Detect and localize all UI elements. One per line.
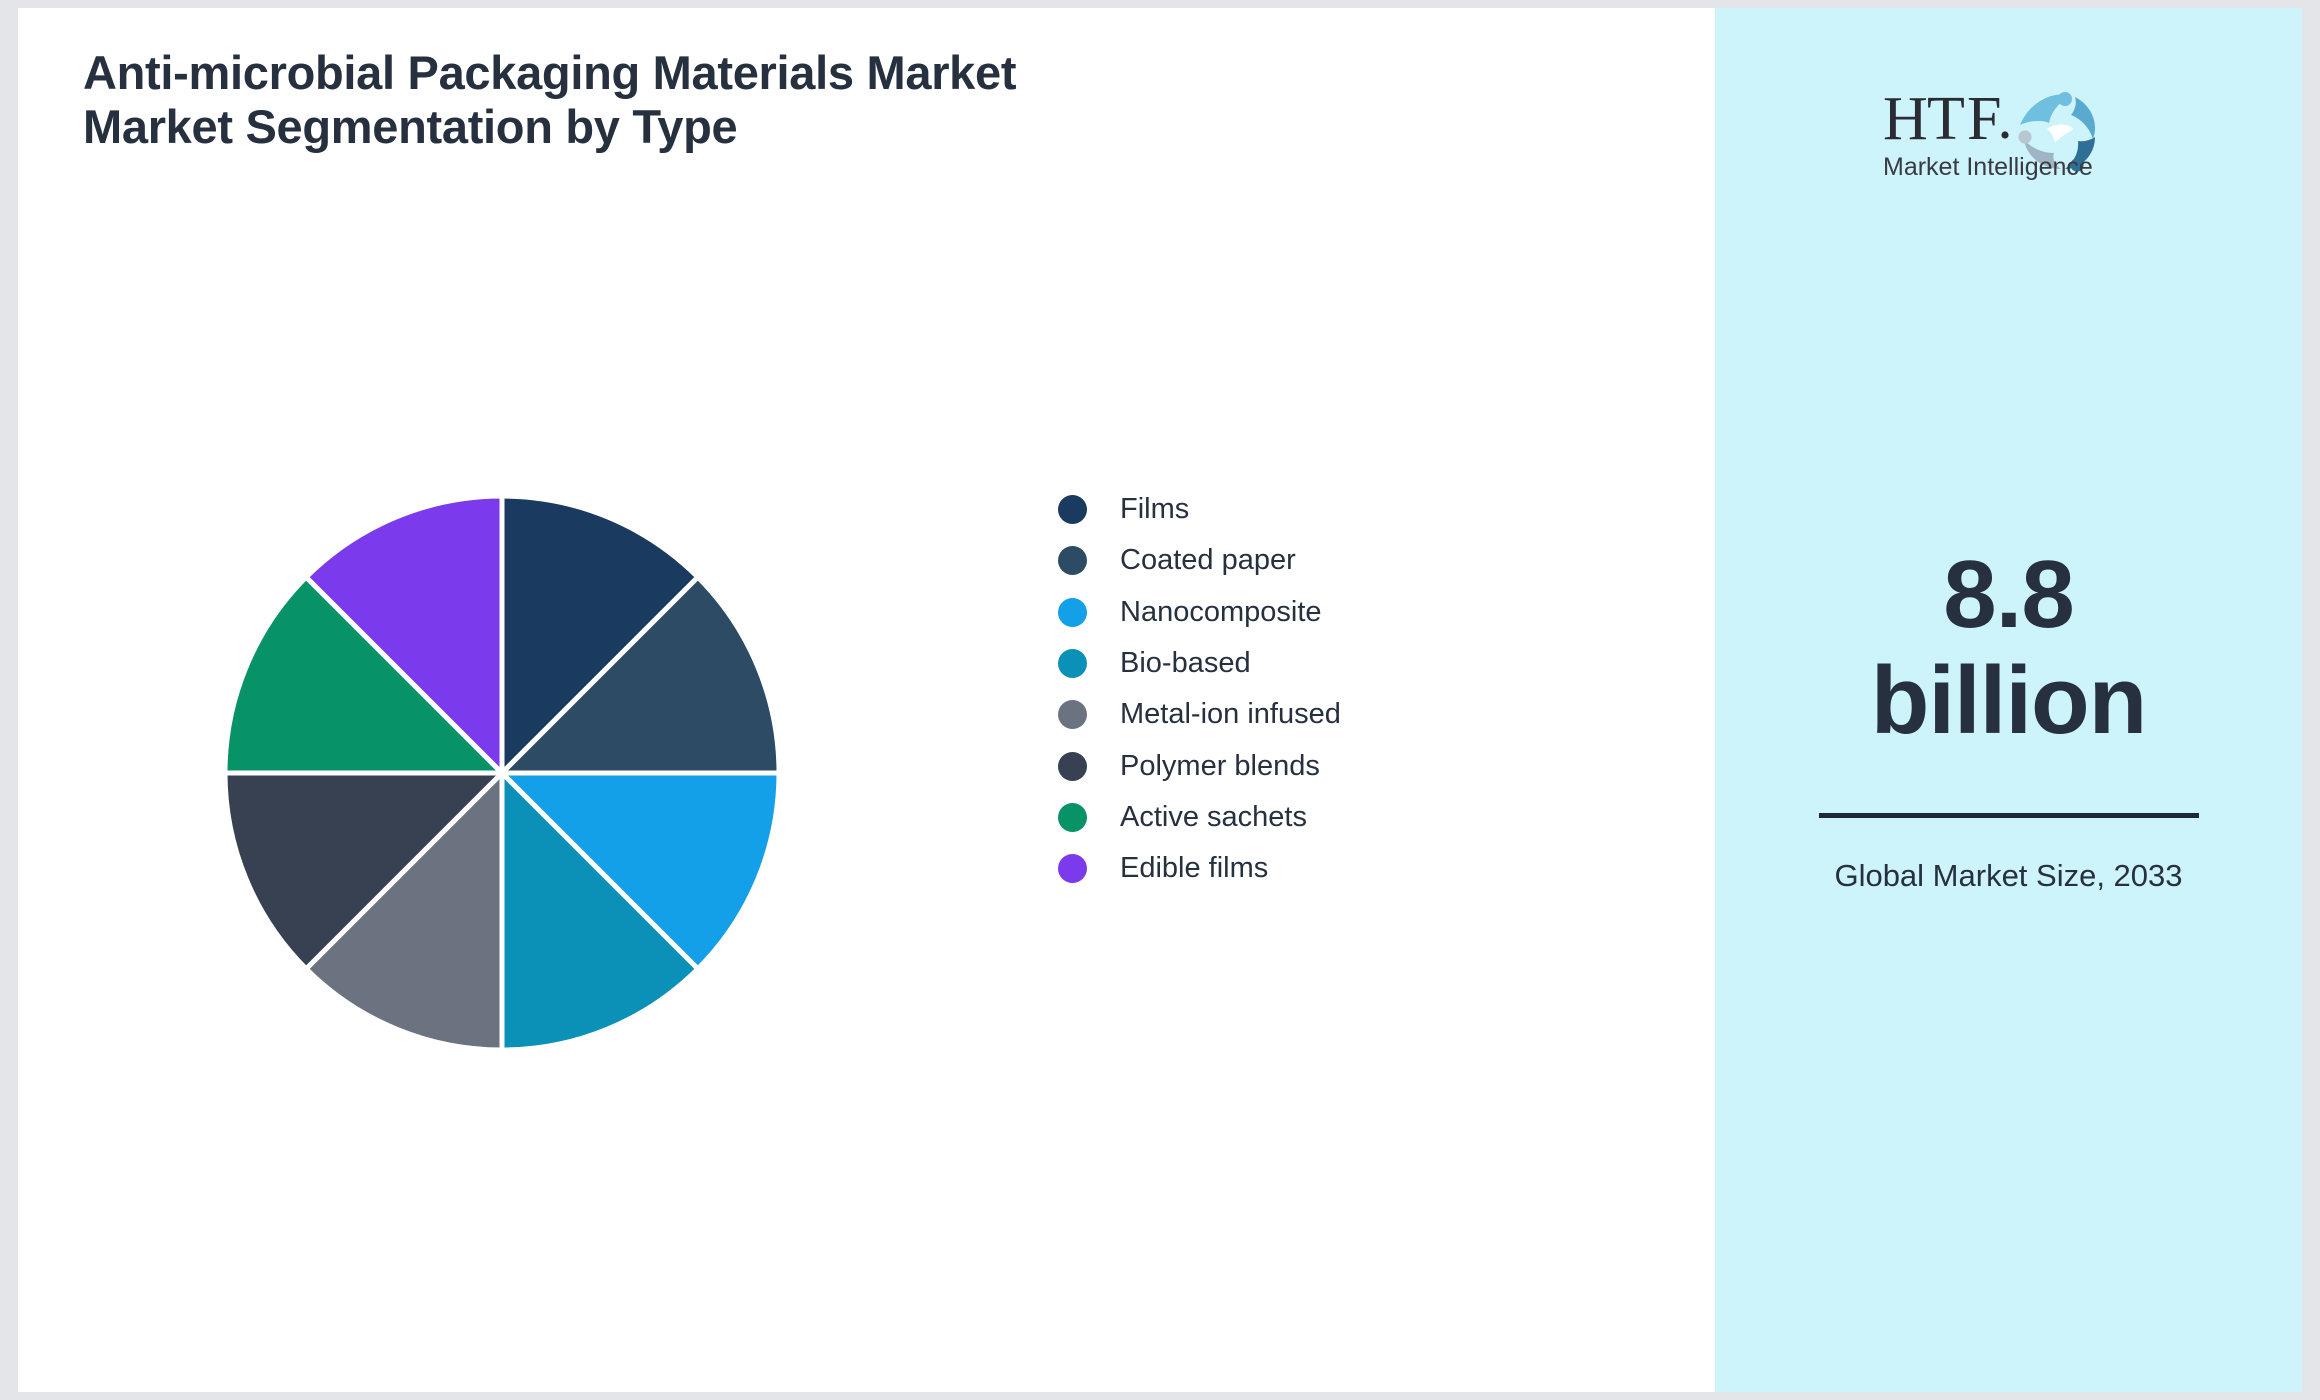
page-title: Anti-microbial Packaging Materials Marke…	[83, 46, 1083, 154]
legend-item[interactable]: Coated paper	[1058, 535, 1678, 586]
legend-item[interactable]: Active sachets	[1058, 792, 1678, 843]
chart-legend: FilmsCoated paperNanocompositeBio-basedM…	[1058, 484, 1678, 894]
legend-item-label: Active sachets	[1120, 803, 1307, 832]
legend-swatch-icon	[1058, 700, 1087, 729]
stat-caption: Global Market Size, 2033	[1715, 856, 2302, 896]
legend-swatch-icon	[1058, 854, 1087, 883]
legend-item[interactable]: Films	[1058, 484, 1678, 535]
chart-pane: Anti-microbial Packaging Materials Marke…	[18, 8, 1715, 1392]
pie-chart	[208, 478, 798, 1068]
legend-item-label: Polymer blends	[1120, 752, 1320, 781]
legend-item[interactable]: Nanocomposite	[1058, 587, 1678, 638]
svg-text:T: T	[1927, 85, 1965, 153]
legend-swatch-icon	[1058, 803, 1087, 832]
logo-subtext: Market Intelligence	[1883, 153, 2093, 181]
legend-item-label: Coated paper	[1120, 546, 1296, 575]
legend-item-label: Edible films	[1120, 854, 1268, 883]
htf-market-intelligence-logo-icon: H T F Market Intelligence	[1879, 77, 2139, 183]
svg-text:F: F	[1967, 85, 2001, 153]
infographic-card: Anti-microbial Packaging Materials Marke…	[18, 8, 2302, 1392]
legend-item-label: Metal-ion infused	[1120, 700, 1341, 729]
legend-item-label: Nanocomposite	[1120, 598, 1322, 627]
market-size-stat: 8.8 billion Global Market Size, 2033	[1715, 542, 2302, 896]
legend-item-label: Films	[1120, 495, 1189, 524]
legend-item[interactable]: Polymer blends	[1058, 740, 1678, 791]
brand-logo: H T F Market Intelligence	[1715, 70, 2302, 190]
stat-divider	[1819, 813, 2199, 818]
legend-item-label: Bio-based	[1120, 649, 1251, 678]
legend-swatch-icon	[1058, 546, 1087, 575]
legend-swatch-icon	[1058, 752, 1087, 781]
legend-item[interactable]: Bio-based	[1058, 638, 1678, 689]
legend-swatch-icon	[1058, 649, 1087, 678]
legend-item[interactable]: Edible films	[1058, 843, 1678, 894]
legend-swatch-icon	[1058, 495, 1087, 524]
legend-swatch-icon	[1058, 598, 1087, 627]
legend-item[interactable]: Metal-ion infused	[1058, 689, 1678, 740]
stat-value: 8.8 billion	[1715, 542, 2302, 753]
svg-text:H: H	[1883, 85, 1928, 153]
stat-panel: H T F Market Intelligence	[1715, 8, 2302, 1392]
pie-slice-group	[225, 496, 779, 1050]
pie-chart-svg	[208, 478, 798, 1068]
